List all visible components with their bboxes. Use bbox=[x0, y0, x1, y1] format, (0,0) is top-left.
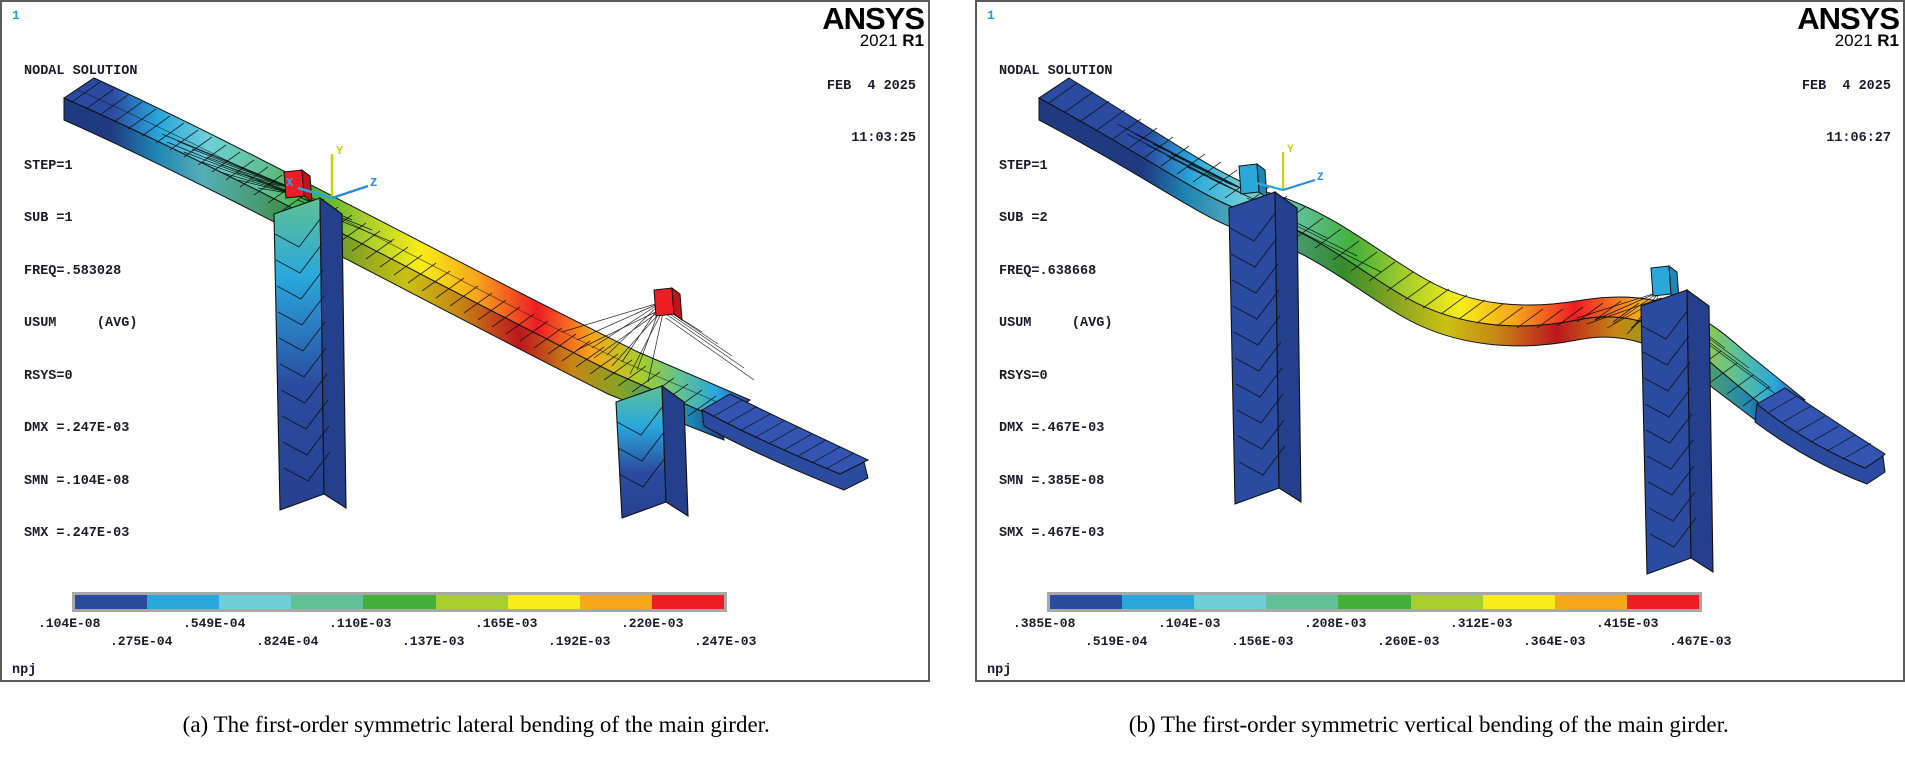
caption-b: (b) The first-order symmetric vertical b… bbox=[953, 690, 1905, 759]
approach-span-a bbox=[702, 394, 868, 490]
legend-tick: .385E-08 bbox=[1013, 616, 1075, 631]
colorbar-seg bbox=[1122, 595, 1194, 609]
legend-tick: .192E-03 bbox=[548, 634, 610, 649]
legend-tick: .156E-03 bbox=[1231, 634, 1293, 649]
legend-tick: .549E-04 bbox=[183, 616, 245, 631]
axis-label-x-a: X bbox=[286, 176, 294, 190]
legend-tick: .260E-03 bbox=[1377, 634, 1439, 649]
colorbar-seg bbox=[147, 595, 219, 609]
contour-legend-b: .385E-08 .104E-03 .208E-03 .312E-03 .415… bbox=[977, 592, 1903, 662]
legend-tick: .519E-04 bbox=[1085, 634, 1147, 649]
colorbar-a bbox=[72, 592, 727, 612]
colorbar-seg bbox=[75, 595, 147, 609]
legend-tick: .165E-03 bbox=[475, 616, 537, 631]
colorbar-seg bbox=[363, 595, 435, 609]
legend-tick: .364E-03 bbox=[1523, 634, 1585, 649]
model-view-b: Y X Z bbox=[977, 2, 1903, 602]
colorbar-seg bbox=[1483, 595, 1555, 609]
colorbar-labels-a: .104E-08 .549E-04 .110E-03 .165E-03 .220… bbox=[2, 614, 928, 658]
colorbar-seg bbox=[1338, 595, 1410, 609]
legend-tick: .467E-03 bbox=[1669, 634, 1731, 649]
figure-ansys-mode-shapes: 1 NODAL SOLUTION STEP=1 SUB =1 FREQ=.583… bbox=[0, 0, 1905, 759]
legend-tick: .110E-03 bbox=[329, 616, 391, 631]
axis-label-x-b: X bbox=[1243, 172, 1250, 184]
corner-tag-b: npj bbox=[987, 663, 1011, 678]
axis-label-z-a: Z bbox=[370, 176, 377, 190]
legend-tick: .275E-04 bbox=[110, 634, 172, 649]
colorbar-seg bbox=[291, 595, 363, 609]
colorbar-seg bbox=[1050, 595, 1122, 609]
ansys-window-a: 1 NODAL SOLUTION STEP=1 SUB =1 FREQ=.583… bbox=[0, 0, 930, 682]
legend-tick: .104E-03 bbox=[1158, 616, 1220, 631]
colorbar-seg bbox=[1627, 595, 1699, 609]
colorbar-seg bbox=[436, 595, 508, 609]
ansys-window-b: 1 NODAL SOLUTION STEP=1 SUB =2 FREQ=.638… bbox=[975, 0, 1905, 682]
colorbar-labels-b: .385E-08 .104E-03 .208E-03 .312E-03 .415… bbox=[977, 614, 1903, 658]
colorbar-seg bbox=[219, 595, 291, 609]
axis-label-y-b: Y bbox=[1287, 144, 1294, 156]
corner-tag-a: npj bbox=[12, 663, 36, 678]
legend-tick: .312E-03 bbox=[1450, 616, 1512, 631]
bridge-pier-b-1 bbox=[1229, 192, 1301, 504]
colorbar-seg bbox=[1266, 595, 1338, 609]
approach-span-b bbox=[1755, 388, 1885, 484]
model-view-a: Y X Z bbox=[2, 2, 928, 602]
panel-container: 1 NODAL SOLUTION STEP=1 SUB =1 FREQ=.583… bbox=[0, 0, 1905, 690]
colorbar-seg bbox=[652, 595, 724, 609]
bridge-pier-a-1 bbox=[274, 198, 346, 510]
colorbar-seg bbox=[508, 595, 580, 609]
contour-legend-a: .104E-08 .549E-04 .110E-03 .165E-03 .220… bbox=[2, 592, 928, 662]
ansys-viewport-a: 1 NODAL SOLUTION STEP=1 SUB =1 FREQ=.583… bbox=[2, 2, 928, 680]
legend-tick: .824E-04 bbox=[256, 634, 318, 649]
legend-tick: .220E-03 bbox=[621, 616, 683, 631]
colorbar-seg bbox=[1555, 595, 1627, 609]
legend-tick: .137E-03 bbox=[402, 634, 464, 649]
axis-label-y-a: Y bbox=[336, 144, 344, 158]
axis-label-z-b: Z bbox=[1317, 172, 1324, 184]
cable-mesh-a bbox=[162, 134, 754, 382]
legend-tick: .415E-03 bbox=[1596, 616, 1658, 631]
legend-tick: .208E-03 bbox=[1304, 616, 1366, 631]
bridge-pier-a-2 bbox=[616, 386, 688, 518]
main-girder-a bbox=[64, 78, 750, 440]
colorbar-seg bbox=[580, 595, 652, 609]
bridge-pier-b-2 bbox=[1641, 290, 1713, 574]
colorbar-seg bbox=[1194, 595, 1266, 609]
legend-tick: .104E-08 bbox=[38, 616, 100, 631]
ansys-viewport-b: 1 NODAL SOLUTION STEP=1 SUB =2 FREQ=.638… bbox=[977, 2, 1903, 680]
bridge-model-svg-a: Y X Z bbox=[2, 2, 928, 602]
figure-captions: (a) The first-order symmetric lateral be… bbox=[0, 690, 1905, 759]
colorbar-seg bbox=[1411, 595, 1483, 609]
bridge-model-svg-b: Y X Z bbox=[977, 2, 1903, 602]
legend-tick: .247E-03 bbox=[694, 634, 756, 649]
caption-a: (a) The first-order symmetric lateral be… bbox=[0, 690, 953, 759]
colorbar-b bbox=[1047, 592, 1702, 612]
